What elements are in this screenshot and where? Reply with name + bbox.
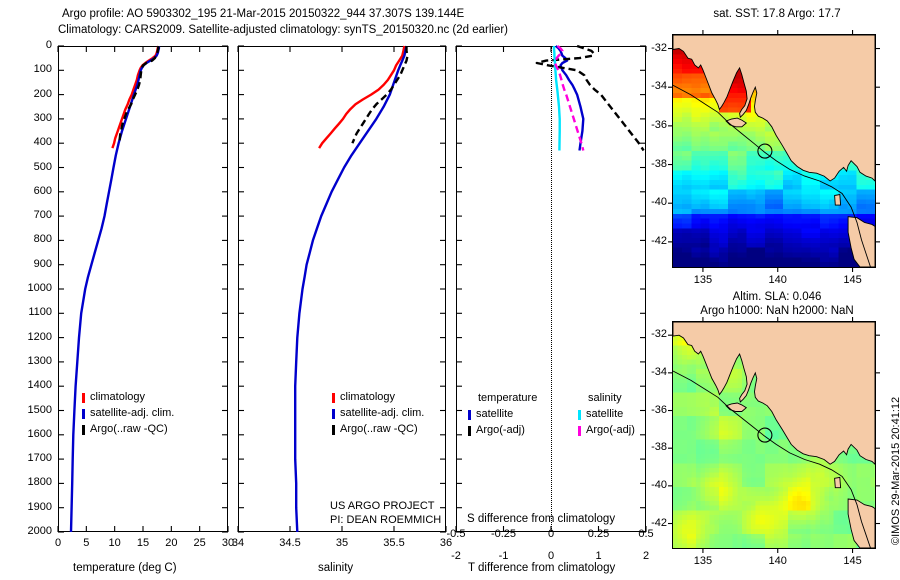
map-lat-label--38: -38 [631, 158, 667, 170]
salinity-tick-34: 34 [216, 537, 260, 549]
legend-label-satellite-adj--clim-: satellite-adj. clim. [340, 407, 424, 419]
depth-tick-label-1600: 1600 [0, 428, 52, 440]
map-lon-label-135: 135 [683, 274, 723, 286]
map-lat-label--42: -42 [631, 235, 667, 247]
salinity-tick-35.5: 35.5 [372, 537, 416, 549]
temperature-tick-5: 5 [72, 537, 100, 549]
depth-tick-label-800: 800 [0, 233, 52, 245]
map-lon-label-140: 140 [758, 274, 798, 286]
page-title-line1: Argo profile: AO 5903302_195 21-Mar-2015… [62, 8, 464, 20]
legend-label-climatology: climatology [340, 391, 395, 403]
legend-label-argo---raw--qc-: Argo(..raw -QC) [340, 423, 418, 435]
t-diff-tick-1: 1 [583, 550, 615, 562]
temperature-profile-panel [58, 46, 228, 532]
depth-tick-label-1200: 1200 [0, 331, 52, 343]
depth-tick-label-1100: 1100 [0, 306, 52, 318]
legend-label-satellite: satellite [586, 408, 623, 420]
temperature-difference-axis-label: T difference from climatology [468, 562, 615, 574]
salinity-tick-35: 35 [320, 537, 364, 549]
depth-tick-label-1000: 1000 [0, 282, 52, 294]
depth-tick-label-300: 300 [0, 112, 52, 124]
map-lat-label--40: -40 [631, 479, 667, 491]
depth-tick-label-600: 600 [0, 185, 52, 197]
us-argo-project-line1: US ARGO PROJECT [330, 500, 435, 512]
map-lat-label--36: -36 [631, 119, 667, 131]
s-diff-tick--0.25: -0.25 [484, 528, 524, 540]
copyright-label: ©IMOS 29-Mar-2015 20:41:12 [890, 397, 900, 545]
depth-tick-label-700: 700 [0, 209, 52, 221]
legend-swatch-satellite-adj--clim- [332, 409, 335, 419]
depth-tick-label-500: 500 [0, 161, 52, 173]
map-lat-label--42: -42 [631, 517, 667, 529]
temperature-tick-25: 25 [186, 537, 214, 549]
salinity-profile-panel [238, 46, 446, 532]
legend-label-satellite-adj--clim-: satellite-adj. clim. [90, 407, 174, 419]
temperature-axis-label: temperature (deg C) [73, 562, 177, 574]
depth-tick-label-1800: 1800 [0, 476, 52, 488]
sst-map-title: sat. SST: 17.8 Argo: 17.7 [672, 8, 882, 20]
depth-tick-label-2000: 2000 [0, 525, 52, 537]
legend-swatch-climatology [82, 393, 85, 403]
sla-map-panel [672, 321, 876, 549]
depth-tick-label-1400: 1400 [0, 379, 52, 391]
salinity-axis-label: salinity [318, 562, 353, 574]
map-lat-label--38: -38 [631, 441, 667, 453]
legend-label-argo--adj-: Argo(-adj) [476, 424, 525, 436]
depth-tick-label-1900: 1900 [0, 501, 52, 513]
legend-heading-temperature: temperature [478, 392, 537, 404]
legend-heading-salinity: salinity [588, 392, 622, 404]
temperature-tick-20: 20 [157, 537, 185, 549]
zero-reference-line [551, 47, 552, 531]
legend-swatch-satellite [468, 410, 471, 420]
t-diff-tick--1: -1 [488, 550, 520, 562]
t-diff-tick-0: 0 [535, 550, 567, 562]
s-diff-tick-0.25: 0.25 [579, 528, 619, 540]
temperature-tick-10: 10 [101, 537, 129, 549]
us-argo-pi-line2: PI: DEAN ROEMMICH [330, 514, 441, 526]
legend-swatch-satellite-adj--clim- [82, 409, 85, 419]
map-lon-label-145: 145 [833, 555, 873, 567]
s-diff-tick-0.5: 0.5 [626, 528, 666, 540]
depth-tick-label-100: 100 [0, 63, 52, 75]
map-lat-label--32: -32 [631, 328, 667, 340]
map-lat-label--34: -34 [631, 366, 667, 378]
map-lat-label--40: -40 [631, 196, 667, 208]
sla-map-title-line1: Altim. SLA: 0.046 [672, 291, 882, 303]
map-lat-label--32: -32 [631, 42, 667, 54]
salinity-difference-axis-label: S difference from climatology [467, 513, 615, 525]
legend-swatch-argo--adj- [578, 426, 581, 436]
map-lon-label-135: 135 [683, 555, 723, 567]
legend-label-argo---raw--qc-: Argo(..raw -QC) [90, 423, 168, 435]
temperature-tick-0: 0 [44, 537, 72, 549]
depth-tick-label-1500: 1500 [0, 404, 52, 416]
legend-swatch-satellite [578, 410, 581, 420]
temperature-tick-15: 15 [129, 537, 157, 549]
depth-tick-label-1300: 1300 [0, 355, 52, 367]
map-lat-label--36: -36 [631, 404, 667, 416]
legend-swatch-argo---raw--qc- [332, 425, 335, 435]
s-diff-tick-0: 0 [531, 528, 571, 540]
depth-tick-label-1700: 1700 [0, 452, 52, 464]
s-diff-tick--0.5: -0.5 [436, 528, 476, 540]
t-diff-tick-2: 2 [630, 550, 662, 562]
map-lon-label-145: 145 [833, 274, 873, 286]
legend-label-argo--adj-: Argo(-adj) [586, 424, 635, 436]
depth-tick-label-900: 900 [0, 258, 52, 270]
depth-tick-label-200: 200 [0, 88, 52, 100]
legend-label-climatology: climatology [90, 391, 145, 403]
page-title-line2: Climatology: CARS2009. Satellite-adjuste… [58, 24, 508, 36]
map-lon-label-140: 140 [758, 555, 798, 567]
depth-tick-label-0: 0 [0, 39, 52, 51]
legend-swatch-argo---raw--qc- [82, 425, 85, 435]
legend-label-satellite: satellite [476, 408, 513, 420]
legend-swatch-climatology [332, 393, 335, 403]
map-lat-label--34: -34 [631, 80, 667, 92]
legend-swatch-argo--adj- [468, 426, 471, 436]
t-diff-tick--2: -2 [440, 550, 472, 562]
depth-tick-label-400: 400 [0, 136, 52, 148]
sla-map-title-line2: Argo h1000: NaN h2000: NaN [662, 305, 892, 317]
salinity-tick-34.5: 34.5 [268, 537, 312, 549]
sst-map-panel [672, 34, 876, 268]
